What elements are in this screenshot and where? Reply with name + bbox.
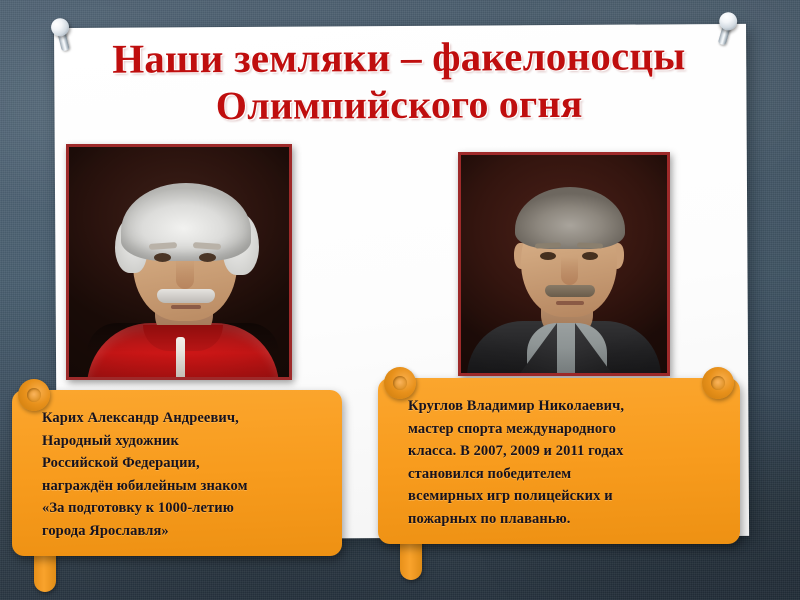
pushpin-head [717,10,739,32]
nose [176,259,194,289]
jacket-zipper [176,337,185,380]
caption-right-text: Круглов Владимир Николаевич, мастер спор… [408,395,724,530]
caption-left-line-1: Карих Александр Андреевич, [42,407,326,430]
pushpin-head [49,16,71,38]
caption-right-line-3: класса. В 2007, 2009 и 2011 годах [408,440,724,463]
caption-right-line-1: Круглов Владимир Николаевич, [408,395,724,418]
title-line-2: Олимпийского огня [56,79,742,130]
caption-left-line-4: награждён юбилейным знаком [42,475,326,498]
scroll-tail-left [34,550,56,592]
banner-sheet: Круглов Владимир Николаевич, мастер спор… [378,378,740,544]
slide-title: Наши земляки – факелоносцы Олимпийского … [56,32,743,130]
caption-left-line-3: Российской Федерации, [42,452,326,475]
eye-left [154,253,171,262]
scroll-tail-left [400,538,422,580]
caption-banner-right[interactable]: Круглов Владимир Николаевич, мастер спор… [378,378,740,544]
caption-left-text: Карих Александр Андреевич, Народный худо… [42,407,326,542]
mouth [171,305,201,309]
nose [561,257,578,285]
eye-right [199,253,216,262]
caption-right-line-5: всемирных игр полицейских и [408,485,724,508]
mustache [545,285,595,297]
caption-left-line-2: Народный художник [42,430,326,453]
mouth [556,301,584,305]
portrait-photo-left[interactable] [66,144,292,380]
caption-banner-left[interactable]: Карих Александр Андреевич, Народный худо… [12,390,342,556]
caption-left-line-6: города Ярославля» [42,520,326,543]
mustache [157,289,215,303]
portrait-photo-right[interactable] [458,152,670,376]
eye-right [582,252,598,260]
caption-right-line-6: пожарных по плаванью. [408,508,724,531]
caption-left-line-5: «За подготовку к 1000-летию [42,497,326,520]
scroll-curl-icon [702,367,734,399]
scroll-curl-icon [384,367,416,399]
caption-right-line-4: становился победителем [408,463,724,486]
banner-sheet: Карих Александр Андреевич, Народный худо… [12,390,342,556]
eye-left [540,252,556,260]
scroll-curl-icon [18,379,50,411]
caption-right-line-2: мастер спорта международного [408,418,724,441]
title-line-1: Наши земляки – факелоносцы [56,32,742,83]
